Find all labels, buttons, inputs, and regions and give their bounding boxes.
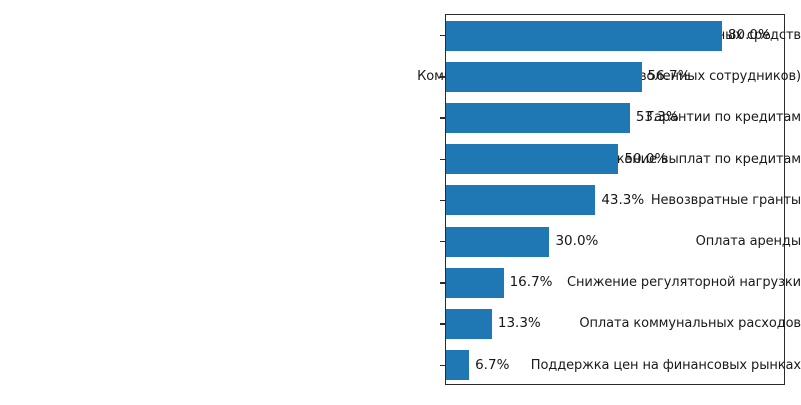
bar — [446, 227, 549, 257]
bar-value-label: 43.3% — [601, 180, 644, 221]
bar — [446, 21, 722, 51]
chart-row: Гарантии по кредитам53.3% — [0, 97, 801, 138]
y-axis-tick-label: Оплата коммунальных расходов — [367, 303, 801, 344]
bar-value-label: 50.0% — [624, 139, 667, 180]
bar-value-label: 80.0% — [728, 15, 771, 56]
bar — [446, 62, 642, 92]
chart-row: Отсрочка или снижение выплат по кредитам… — [0, 139, 801, 180]
chart-row: Невозвратные гранты43.3% — [0, 180, 801, 221]
chart-row: Снижение регуляторной нагрузки16.7% — [0, 262, 801, 303]
chart-row: Компенсация зарплаты (для неуволенных со… — [0, 56, 801, 97]
bar-value-label: 56.7% — [648, 56, 691, 97]
bar-value-label: 6.7% — [475, 345, 509, 386]
chart-row: Предоставление заемных средств80.0% — [0, 15, 801, 56]
chart-row: Поддержка цен на финансовых рынках6.7% — [0, 345, 801, 386]
bar — [446, 350, 469, 380]
chart-row: Оплата коммунальных расходов13.3% — [0, 303, 801, 344]
bar-value-label: 30.0% — [555, 221, 598, 262]
bar-value-label: 13.3% — [498, 303, 541, 344]
bar — [446, 268, 504, 298]
bar — [446, 144, 618, 174]
bar — [446, 309, 492, 339]
chart-row: Оплата аренды30.0% — [0, 221, 801, 262]
y-axis-tick-label: Снижение регуляторной нагрузки — [367, 262, 801, 303]
bar-value-label: 16.7% — [510, 262, 553, 303]
bar-chart-figure: Предоставление заемных средств80.0%Компе… — [0, 0, 801, 405]
bar-value-label: 53.3% — [636, 97, 679, 138]
bar — [446, 185, 595, 215]
bar — [446, 103, 630, 133]
y-axis-tick-label: Поддержка цен на финансовых рынках — [367, 345, 801, 386]
